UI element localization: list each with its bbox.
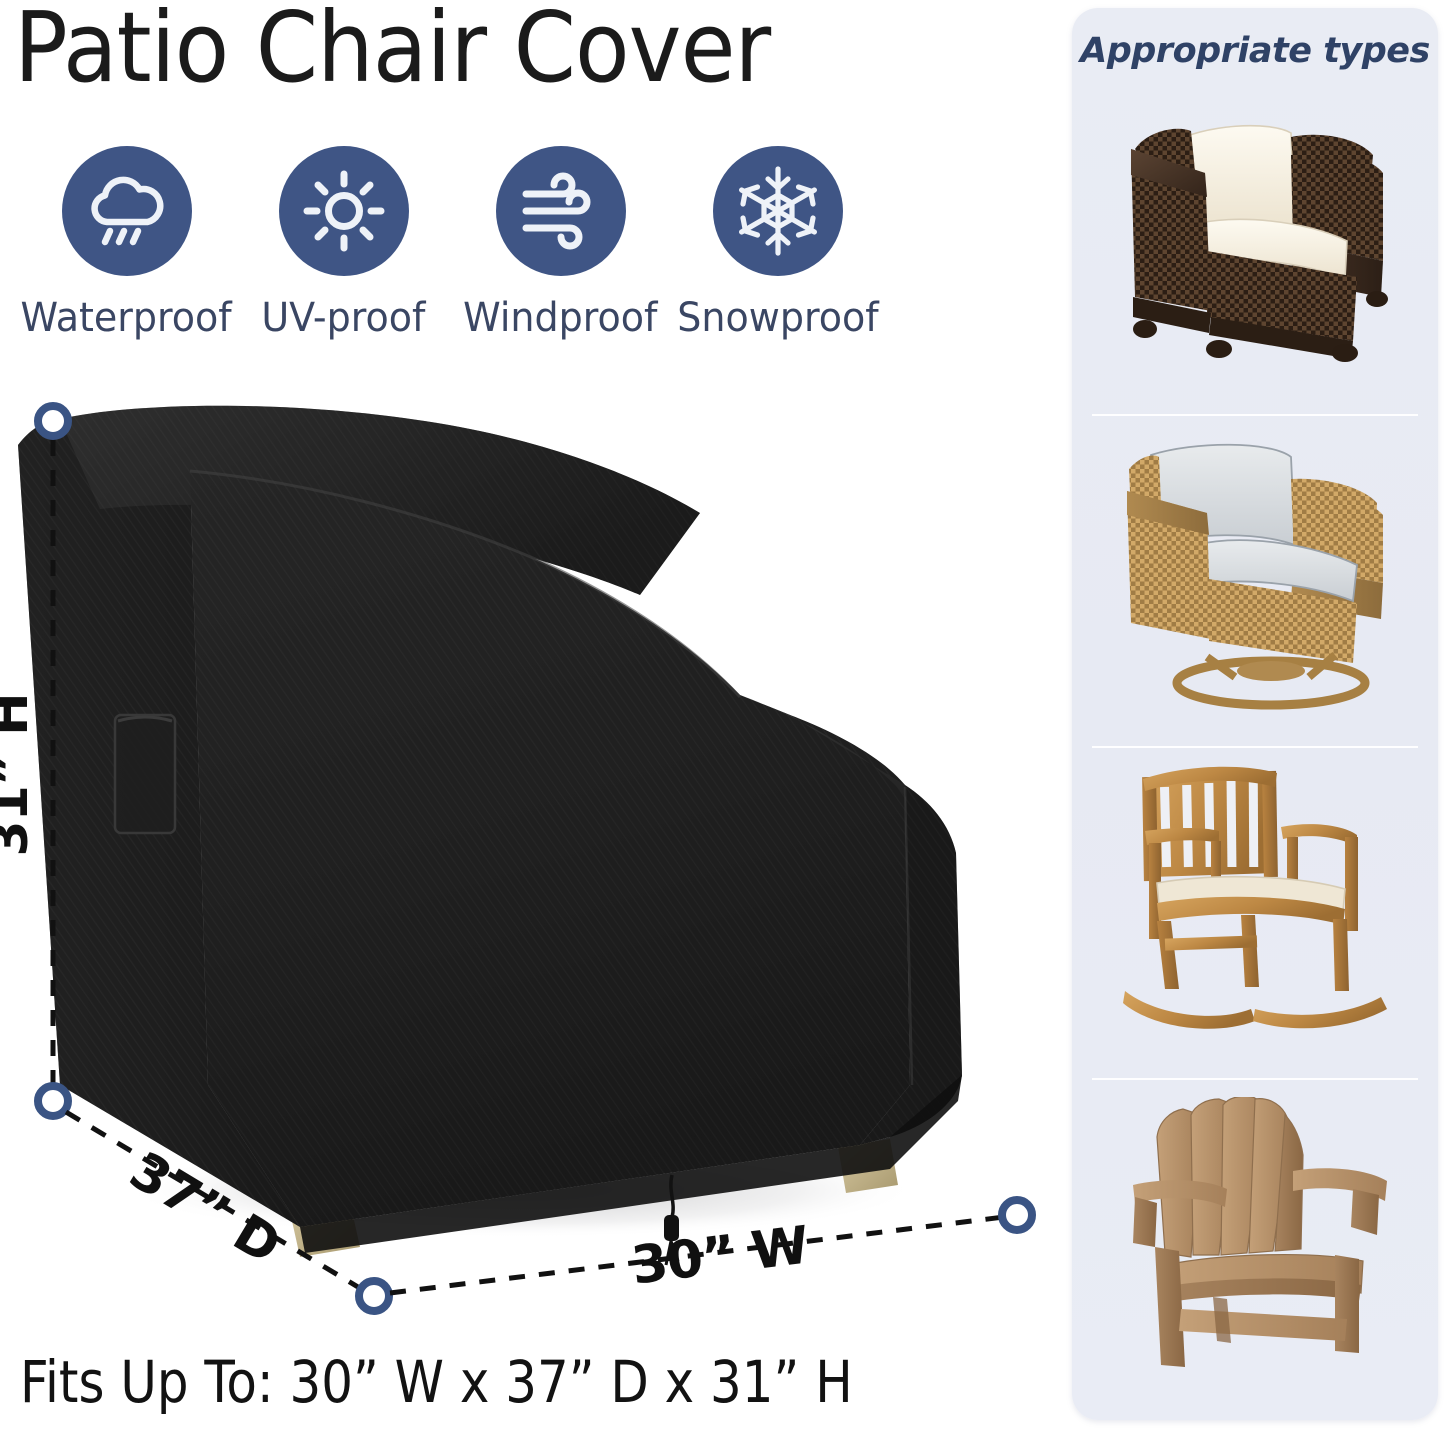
- fits-up-to-text: Fits Up To: 30” W x 37” D x 31” H: [20, 1348, 853, 1416]
- feature-label: Waterproof: [21, 296, 232, 340]
- feature-circle: [713, 146, 843, 276]
- feature-label: Snowproof: [677, 296, 878, 340]
- sun-icon: [298, 165, 390, 257]
- appropriate-types-title: Appropriate types: [1072, 30, 1438, 72]
- appropriate-types-panel: Appropriate types: [1072, 8, 1438, 1420]
- wind-icon: [515, 165, 607, 257]
- feature-uv-proof: UV-proof: [235, 146, 452, 340]
- thumbnail-tan-wicker-swivel-chair[interactable]: [1072, 418, 1438, 748]
- feature-circle: [496, 146, 626, 276]
- snowflake-icon: [730, 163, 826, 259]
- feature-snowproof: Snowproof: [669, 146, 886, 340]
- feature-circle: [279, 146, 409, 276]
- cover-handle-pocket: [115, 715, 175, 833]
- dimension-height-label: 31” H: [0, 693, 40, 856]
- thumbnail-dark-wicker-lounge-chair[interactable]: [1072, 86, 1438, 416]
- feature-waterproof: Waterproof: [18, 146, 235, 340]
- feature-badge-row: Waterproof: [18, 146, 888, 366]
- product-image-with-dimensions: 31” H 37” D 30” W: [0, 385, 1060, 1325]
- feature-circle: [62, 146, 192, 276]
- page-title: Patio Chair Cover: [14, 0, 770, 102]
- thumbnail-adirondack-chair[interactable]: [1072, 1082, 1438, 1412]
- feature-label: UV-proof: [261, 296, 425, 340]
- product-infographic: Patio Chair Cover: [0, 0, 1445, 1431]
- rain-cloud-icon: [81, 165, 173, 257]
- feature-label: Windproof: [463, 296, 657, 340]
- thumbnail-wooden-rocking-chair[interactable]: [1072, 750, 1438, 1080]
- feature-windproof: Windproof: [452, 146, 669, 340]
- left-column: Patio Chair Cover: [0, 0, 1060, 1431]
